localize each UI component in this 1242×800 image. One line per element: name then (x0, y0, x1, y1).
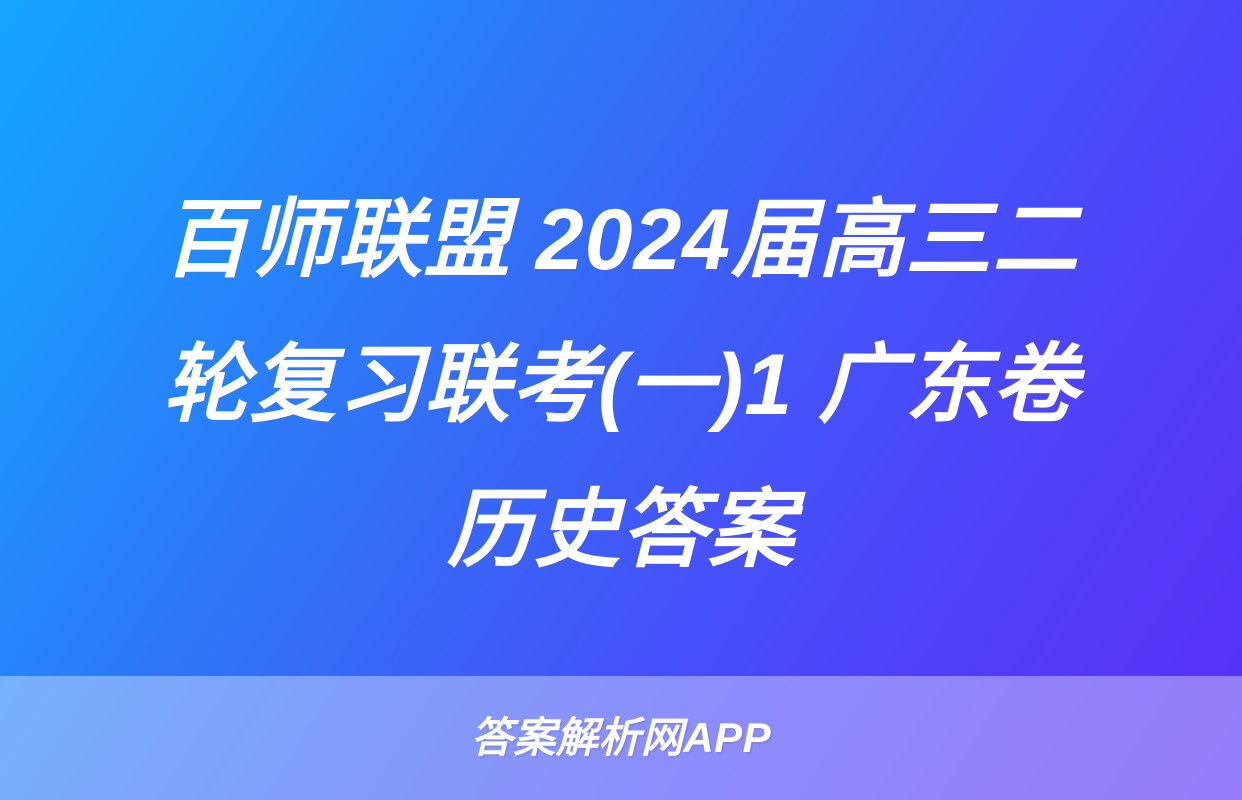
title-line-2: 轮复习联考(一)1 广东卷 (58, 313, 1184, 458)
watermark-band: 答案解析网APP (0, 676, 1242, 800)
title-line-3: 历史答案 (58, 458, 1184, 603)
poster-canvas: 百师联盟 2024届高三二 轮复习联考(一)1 广东卷 历史答案 答案解析网AP… (0, 0, 1242, 800)
title-line-1: 百师联盟 2024届高三二 (58, 168, 1184, 313)
watermark-label: 答案解析网APP (471, 715, 771, 761)
page-title: 百师联盟 2024届高三二 轮复习联考(一)1 广东卷 历史答案 (0, 168, 1242, 603)
